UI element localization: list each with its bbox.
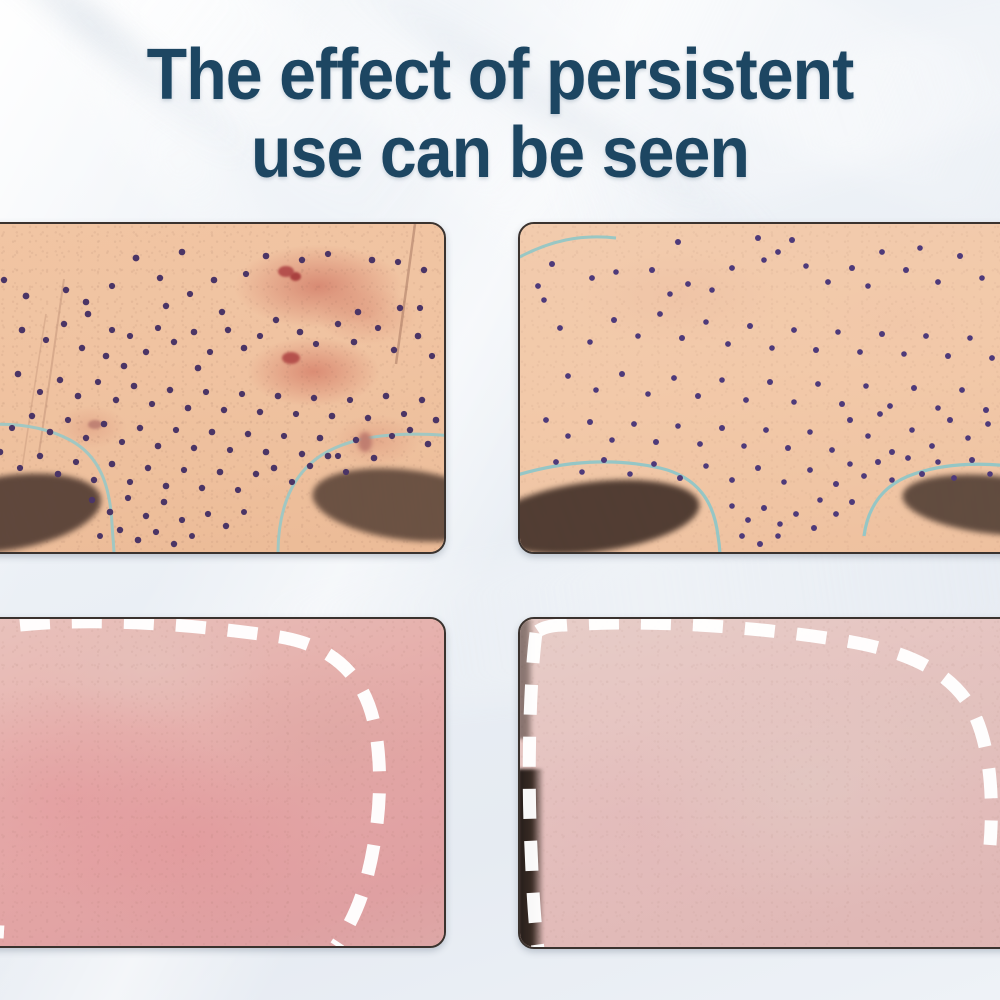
page-title: The effect of persistent use can be seen bbox=[0, 36, 1000, 192]
dashed-area-outline bbox=[520, 619, 1000, 947]
page-title-line-1: The effect of persistent bbox=[40, 36, 960, 114]
comparison-infographic: The effect of persistent use can be seen bbox=[0, 0, 1000, 1000]
comparison-panel-top-left: Before use bbox=[0, 222, 446, 554]
comparison-panel-top-right: After use bbox=[518, 222, 1000, 554]
pore-marker-overlay bbox=[520, 224, 1000, 552]
pore-marker-overlay bbox=[0, 224, 444, 552]
page-title-line-2: use can be seen bbox=[40, 114, 960, 192]
comparison-panel-bottom-left: Before use bbox=[0, 617, 446, 948]
dashed-area-outline bbox=[0, 619, 444, 946]
comparison-panel-bottom-right: After use bbox=[518, 617, 1000, 949]
